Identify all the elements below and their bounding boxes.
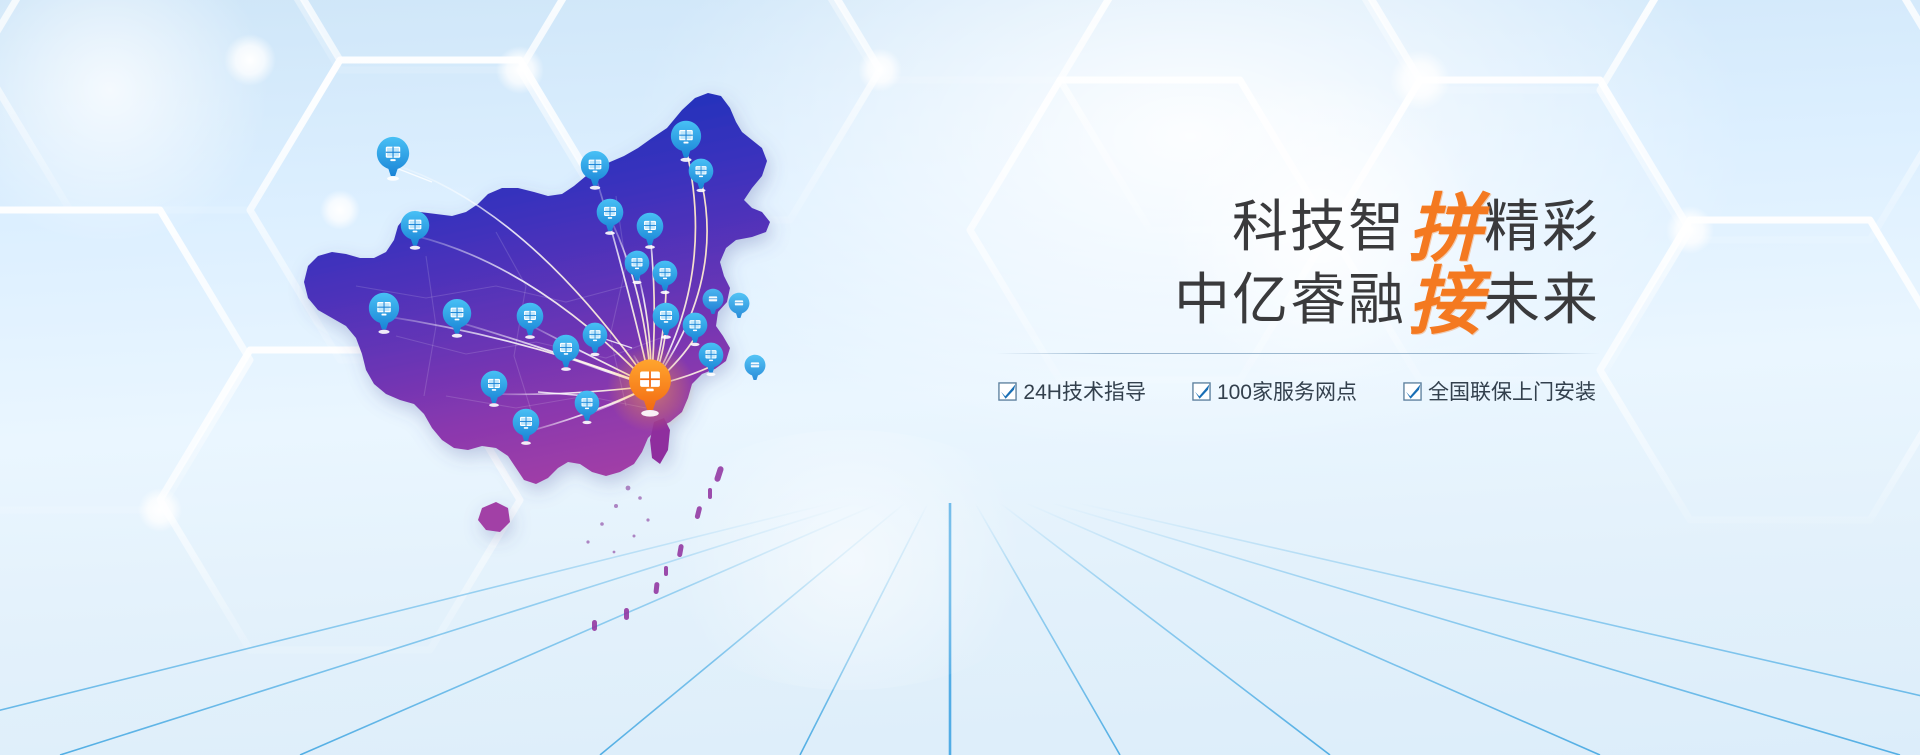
map-marker-pin-small: [729, 293, 750, 318]
feature-label: 全国联保上门安装: [1428, 376, 1596, 406]
headline: 科技智拼精彩 中亿睿融接未来: [960, 196, 1600, 331]
banner-stage: 科技智拼精彩 中亿睿融接未来 24H技术指导 100家服务网点: [0, 0, 1920, 755]
map-marker-pin-small: [745, 355, 766, 380]
south-sea-specks: [586, 486, 649, 554]
feature-item: 全国联保上门安装: [1403, 376, 1596, 406]
headline-line-1: 科技智拼精彩: [960, 196, 1600, 259]
feature-item: 100家服务网点: [1192, 376, 1357, 406]
china-service-map: [196, 36, 836, 636]
checkbox-checked-icon: [1192, 382, 1211, 401]
headline-line2-accent: 接: [1406, 259, 1484, 345]
feature-label: 100家服务网点: [1217, 376, 1357, 406]
feature-item: 24H技术指导: [998, 376, 1146, 406]
checkbox-checked-icon: [1403, 382, 1422, 401]
feature-label: 24H技术指导: [1023, 376, 1146, 406]
headline-block: 科技智拼精彩 中亿睿融接未来 24H技术指导 100家服务网点: [960, 196, 1600, 406]
headline-line1-post: 精彩: [1484, 195, 1600, 258]
checkbox-checked-icon: [998, 382, 1017, 401]
south-sea-islands: [592, 465, 724, 631]
headline-line1-pre: 科技智: [1232, 195, 1406, 258]
feature-list: 24H技术指导 100家服务网点 全国联保上门安装: [960, 376, 1600, 406]
map-marker-pin: [377, 137, 409, 181]
headline-divider: [996, 353, 1600, 354]
headline-line2-pre: 中亿睿融: [1174, 268, 1406, 331]
headline-line-2: 中亿睿融接未来: [960, 269, 1600, 332]
headline-line2-post: 未来: [1484, 268, 1600, 331]
